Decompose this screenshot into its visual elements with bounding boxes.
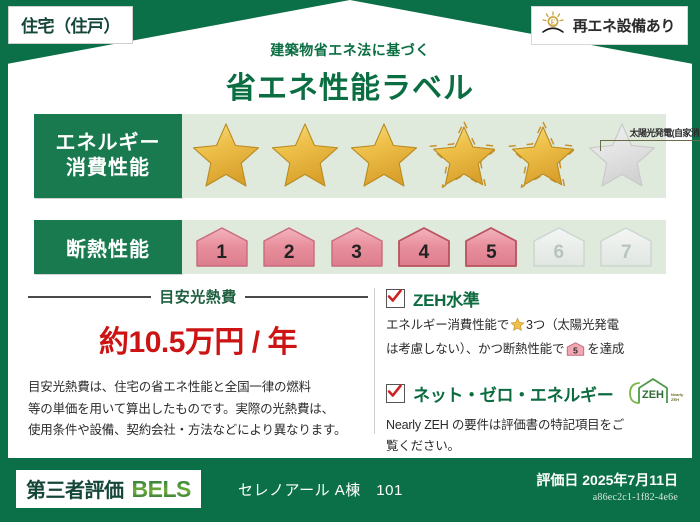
insulation-level-6-number: 6 [554,242,565,264]
zeh-body-pre: エネルギー消費性能で [386,318,509,332]
star-6-empty [584,118,660,194]
net-zero-header: ネット・ゼロ・エネルギー ZEH Nearly ZEH [386,376,674,411]
heading-rule-right [245,296,368,298]
label-title-block: 建築物省エネ法に基づく 省エネ性能ラベル [0,40,700,107]
insulation-level-2-number: 2 [284,242,295,264]
insulation-levels-panel: 1 2 3 4 [182,220,666,274]
star-icon [510,321,525,335]
star-5-filled-solar [505,118,581,194]
insulation-level-3: 3 [328,225,386,269]
net-zero-title: ネット・ゼロ・エネルギー [413,381,613,406]
energy-cost-amount: 約10.5万円 / 年 [28,317,368,361]
insulation-level-7: 7 [597,225,655,269]
energy-cost-heading: 目安光熱費 [28,286,368,307]
third-party-label: 第三者評価 [26,474,124,503]
energy-performance-stars-panel: 太陽光発電(自家消費)分 [182,114,666,198]
bels-third-party-badge: 第三者評価 BELS [16,470,201,508]
insulation-performance-label: 断熱性能 [34,220,182,274]
energy-label-line1: エネルギー [56,131,161,156]
energy-cost-heading-text: 目安光熱費 [159,286,237,307]
dwelling-type-badge: 住宅（住戸） [8,6,133,44]
cost-note-line-3: 使用条件や設備、契約会社・方法などにより異なります。 [28,420,368,442]
energy-label-line2: 消費性能 [66,156,150,181]
net-zero-checkbox[interactable] [386,384,405,403]
insulation-level-1: 1 [193,225,251,269]
energy-cost-note: 目安光熱費は、住宅の省エネ性能と全国一律の燃料 等の単価を用いて算出したものです… [28,377,368,442]
renewable-equipment-badge: E 再エネ設備あり [531,6,688,45]
net-zero-body: Nearly ZEH の要件は評価書の特記項目をご 覧ください。 [386,415,674,457]
zeh-level-title: ZEH水準 [413,286,480,311]
renewable-equipment-label: 再エネ設備あり [573,15,675,36]
energy-performance-row: エネルギー 消費性能 [34,114,666,198]
insulation-performance-row: 断熱性能 [34,220,666,274]
net-zero-body-line-2: 覧ください。 [386,436,674,457]
zeh-level-body-line-1: エネルギー消費性能で3つ（太陽光発電 [386,315,674,339]
cost-note-line-2: 等の単価を用いて算出したものです。実際の光熱費は、 [28,399,368,421]
svg-text:5: 5 [573,346,578,356]
star-rating [186,114,662,198]
zeh-level-body-line-2: は考慮しない）、かつ断熱性能で5を達成 [386,339,674,364]
svg-text:ZEH: ZEH [642,389,664,401]
bels-logo-text: BELS [132,476,191,503]
insulation-level-4: 4 [395,225,453,269]
evaluation-date-block: 評価日 2025年7月11日 a86ec2c1-1f82-4e6e [536,470,678,503]
certification-zeh-level: ZEH水準 エネルギー消費性能で3つ（太陽光発電 は考慮しない）、かつ断熱性能で… [386,286,674,364]
zeh-body-line2-post: を達成 [587,342,624,356]
insulation-level-2: 2 [260,225,318,269]
zeh-level-header: ZEH水準 [386,286,674,311]
insulation-level-7-number: 7 [621,242,632,264]
insulation-level-5-achieved: 5 [462,225,520,269]
svg-text:ZEH: ZEH [671,397,679,402]
energy-cost-section: 目安光熱費 約10.5万円 / 年 目安光熱費は、住宅の省エネ性能と全国一律の燃… [28,286,368,442]
insulation-level-3-number: 3 [351,242,362,264]
insulation-level-1-number: 1 [216,242,227,264]
insulation-level-scale: 1 2 3 4 [188,220,660,274]
star-3-filled [346,118,422,194]
dwelling-type-label: 住宅（住戸） [21,17,120,36]
section-divider [374,288,375,434]
certifications-section: ZEH水準 エネルギー消費性能で3つ（太陽光発電 は考慮しない）、かつ断熱性能で… [386,286,674,465]
bels-energy-label: 住宅（住戸） E 再エネ設備あり 建築物省エネ法に基づく 省エネ性能ラベル [0,0,700,522]
evaluation-date: 評価日 2025年7月11日 [536,470,678,490]
svg-text:E: E [550,19,555,27]
title-main: 省エネ性能ラベル [0,63,700,107]
insulation-label-text: 断熱性能 [66,233,150,262]
insulation-level-6: 6 [530,225,588,269]
zeh-body-mid: 3つ（太陽光発電 [526,318,619,332]
evaluation-id: a86ec2c1-1f82-4e6e [536,492,678,503]
cost-note-line-1: 目安光熱費は、住宅の省エネ性能と全国一律の燃料 [28,377,368,399]
zeh-house-logo-icon: ZEH Nearly ZEH [626,376,684,411]
star-4-filled-solar [426,118,502,194]
star-2-filled [267,118,343,194]
energy-performance-label: エネルギー 消費性能 [34,114,182,198]
sun-solar-icon: E [540,11,566,40]
zeh-level-body: エネルギー消費性能で3つ（太陽光発電 は考慮しない）、かつ断熱性能で5を達成 [386,315,674,364]
property-name: セレノアール A棟 101 [238,479,403,500]
house-badge-icon: 5 [566,346,585,360]
star-1-filled [188,118,264,194]
zeh-body-line2-pre: は考慮しない）、かつ断熱性能で [386,342,564,356]
certification-net-zero-energy: ネット・ゼロ・エネルギー ZEH Nearly ZEH Nearly ZEH の… [386,376,674,457]
insulation-level-4-number: 4 [419,242,430,264]
zeh-level-checkbox[interactable] [386,289,405,308]
heading-rule-left [28,296,151,298]
insulation-level-5-number: 5 [486,242,497,264]
net-zero-body-line-1: Nearly ZEH の要件は評価書の特記項目をご [386,415,674,436]
